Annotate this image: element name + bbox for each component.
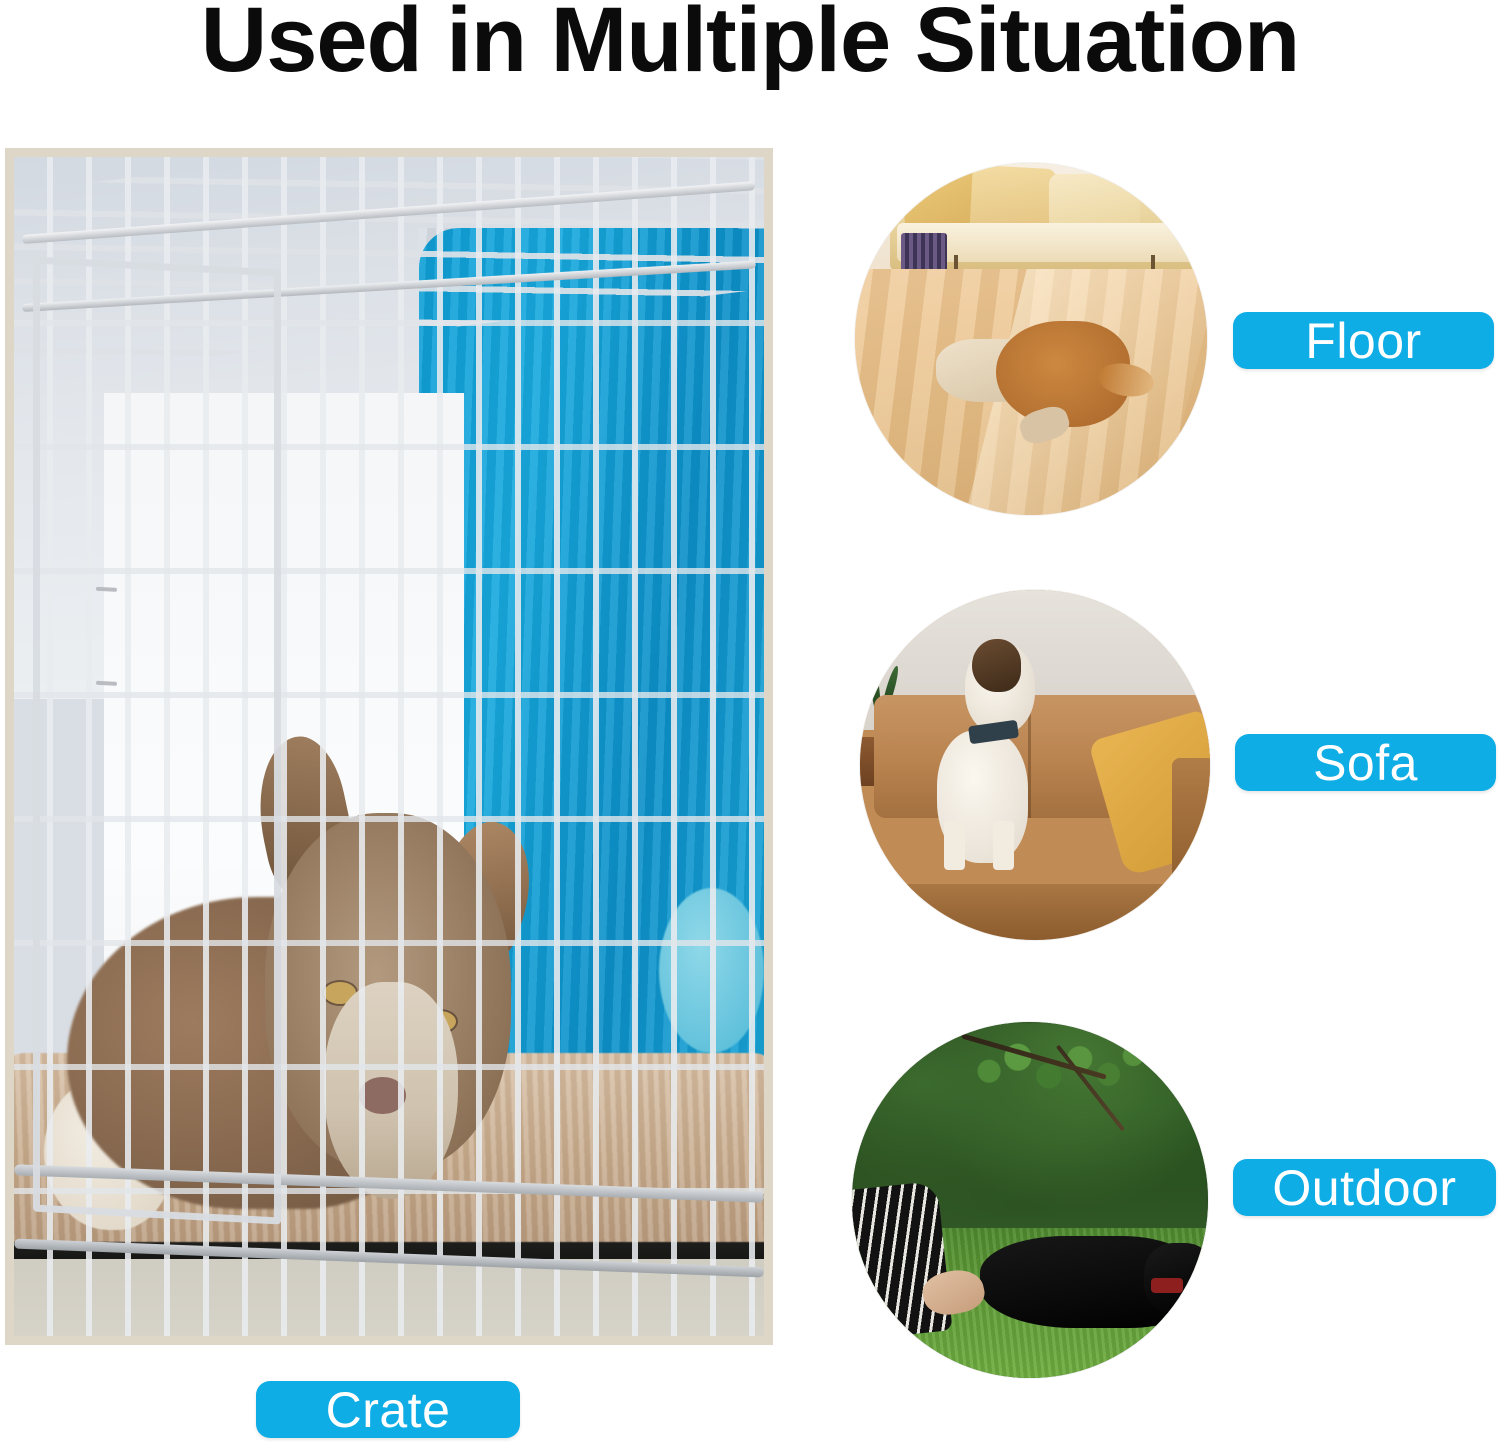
scene-label-outdoor: Outdoor bbox=[1233, 1159, 1496, 1216]
scene-label-floor: Floor bbox=[1233, 312, 1494, 369]
outdoor-scene-image bbox=[852, 1022, 1208, 1378]
page-title: Used in Multiple Situation bbox=[0, 0, 1500, 86]
outdoor-person-sleeve bbox=[852, 1181, 952, 1341]
sofa-scene-image bbox=[860, 590, 1210, 940]
outdoor-dog-collar bbox=[1151, 1278, 1183, 1292]
crate-door-frame bbox=[33, 257, 281, 1225]
crate-scene-image bbox=[14, 157, 764, 1336]
dog-nose bbox=[359, 1077, 406, 1115]
scene-thumbnail-sofa bbox=[860, 590, 1210, 940]
sofa-front-panel bbox=[860, 884, 1210, 940]
scene-thumbnail-floor bbox=[855, 163, 1207, 515]
sofa-dog-hair bbox=[972, 639, 1021, 692]
plant-leaf-1 bbox=[860, 652, 870, 718]
crate-photo-frame bbox=[5, 148, 773, 1345]
blue-toy bbox=[659, 888, 764, 1053]
scene-label-crate: Crate bbox=[256, 1381, 520, 1438]
scene-thumbnail-outdoor bbox=[852, 1022, 1208, 1378]
sofa-dog-leg-1 bbox=[944, 821, 965, 870]
floor-scene-image bbox=[855, 163, 1207, 515]
crate-door-latch-lower bbox=[96, 681, 117, 686]
crate-door-latch-upper bbox=[96, 587, 117, 592]
sofa-armrest bbox=[1172, 758, 1211, 898]
sofa-dog-leg-2 bbox=[993, 821, 1014, 870]
scene-label-sofa: Sofa bbox=[1235, 734, 1496, 791]
outdoor-leaves bbox=[952, 1040, 1158, 1118]
